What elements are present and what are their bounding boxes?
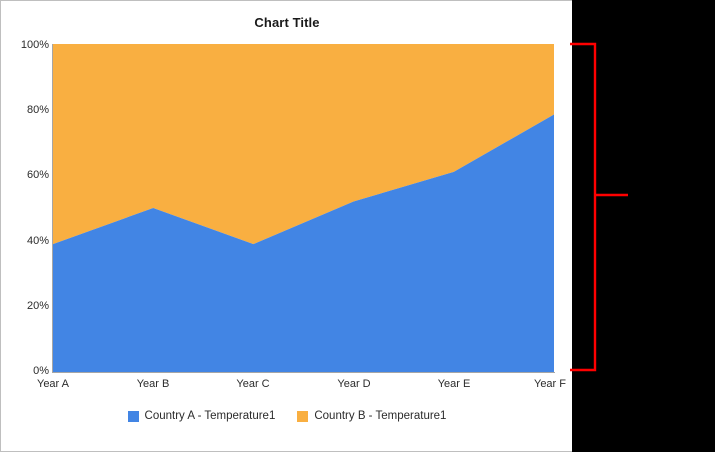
y-tick-label: 0% <box>5 365 49 377</box>
x-tick-label: Year A <box>37 378 69 390</box>
legend-label: Country B - Temperature1 <box>314 410 446 422</box>
y-axis-line <box>52 44 53 373</box>
y-tick-label: 60% <box>5 169 49 181</box>
x-tick-label: Year D <box>337 378 370 390</box>
black-backdrop-region <box>572 0 715 452</box>
legend-swatch-icon <box>128 411 139 422</box>
legend-item-country-b[interactable]: Country B - Temperature1 <box>297 410 446 422</box>
y-tick-label: 20% <box>5 300 49 312</box>
legend-label: Country A - Temperature1 <box>145 410 276 422</box>
y-tick-label: 40% <box>5 235 49 247</box>
area-chart-svg <box>53 44 554 372</box>
x-tick-label: Year C <box>236 378 269 390</box>
x-tick-label: Year F <box>534 378 566 390</box>
plot-area <box>53 44 554 372</box>
y-tick-label: 80% <box>5 104 49 116</box>
legend-swatch-icon <box>297 411 308 422</box>
x-axis-labels: Year A Year B Year C Year D Year E Year … <box>53 378 554 396</box>
y-tick-label: 100% <box>5 39 49 51</box>
x-axis-line <box>52 372 555 373</box>
x-tick-label: Year E <box>438 378 471 390</box>
chart-legend: Country A - Temperature1 Country B - Tem… <box>1 410 573 422</box>
screenshot-root: Chart Title 100% 80% 60% 40% 20% 0% Year… <box>0 0 715 452</box>
chart-title: Chart Title <box>1 15 573 30</box>
legend-item-country-a[interactable]: Country A - Temperature1 <box>128 410 276 422</box>
x-tick-label: Year B <box>137 378 170 390</box>
chart-panel: Chart Title 100% 80% 60% 40% 20% 0% Year… <box>0 0 572 452</box>
